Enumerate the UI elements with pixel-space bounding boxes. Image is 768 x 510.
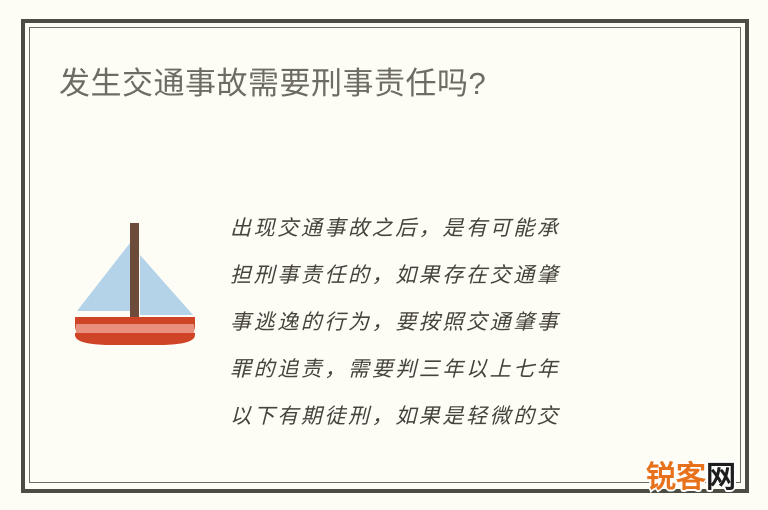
- slide-page: 发生交通事故需要刑事责任吗? 出现交通事故之后，是有可能承 担刑事责任的，如果存…: [0, 0, 768, 510]
- sailboat-icon: [71, 217, 199, 345]
- body-line: 以下有期徒刑，如果是轻微的交: [230, 393, 660, 440]
- body-line: 出现交通事故之后，是有可能承: [230, 205, 660, 252]
- page-title: 发生交通事故需要刑事责任吗?: [59, 63, 486, 105]
- body-line: 担刑事责任的，如果存在交通肇: [230, 252, 660, 299]
- watermark: 锐客网: [646, 461, 736, 495]
- content-area: 出现交通事故之后，是有可能承 担刑事责任的，如果存在交通肇 事逃逸的行为，要按照…: [60, 205, 680, 460]
- body-line: 事逃逸的行为，要按照交通肇事: [230, 299, 660, 346]
- body-paragraph: 出现交通事故之后，是有可能承 担刑事责任的，如果存在交通肇 事逃逸的行为，要按照…: [230, 205, 660, 440]
- watermark-suffix-text: 网: [706, 461, 736, 494]
- body-line: 罪的追责，需要判三年以上七年: [230, 346, 660, 393]
- watermark-brand-text: 锐客: [646, 461, 706, 494]
